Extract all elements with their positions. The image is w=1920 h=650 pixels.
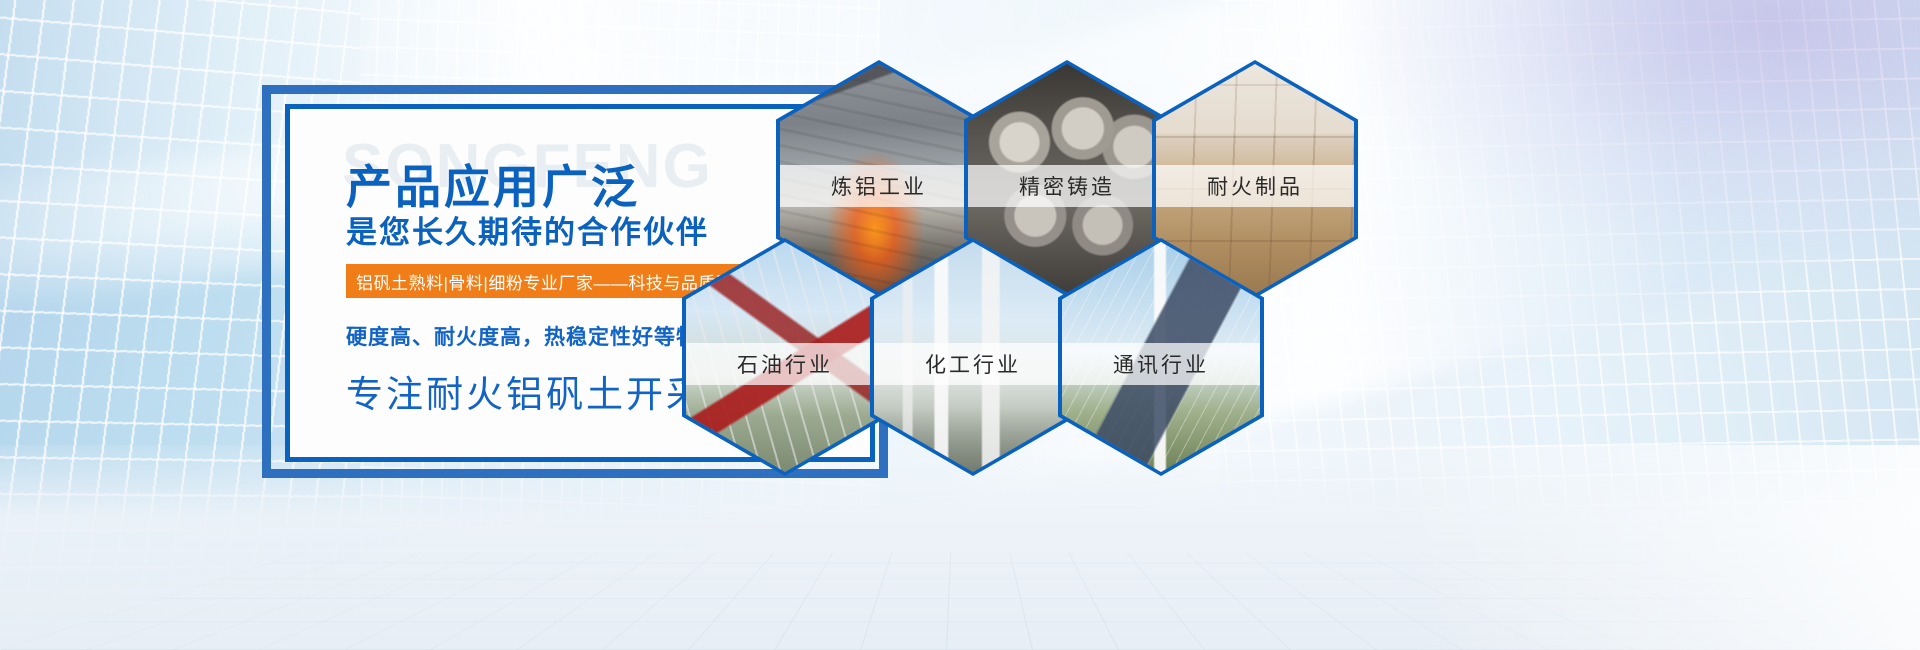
hex-label-casting: 精密铸造 (968, 165, 1166, 207)
promo-banner: SONGFENG 产品应用广泛 是您长久期待的合作伙伴 铝矾土熟料|骨料|细粉专… (0, 0, 1920, 650)
hex-label-refractory: 耐火制品 (1156, 165, 1354, 207)
hex-label-oil: 石油行业 (686, 343, 884, 385)
purple-glow-icon (1340, 0, 1920, 260)
feature-text: 硬度高、耐火度高，热稳定性好等特性 (346, 321, 720, 351)
subtitle: 是您长久期待的合作伙伴 (346, 207, 709, 252)
application-hexagon-grid: 炼铝工业 精密铸造 耐火制品 石油行业 化工行业 (690, 60, 1350, 550)
hex-label-smelting: 炼铝工业 (780, 165, 978, 207)
hex-label-telecom: 通讯行业 (1062, 343, 1260, 385)
hex-label-chemical: 化工行业 (874, 343, 1072, 385)
